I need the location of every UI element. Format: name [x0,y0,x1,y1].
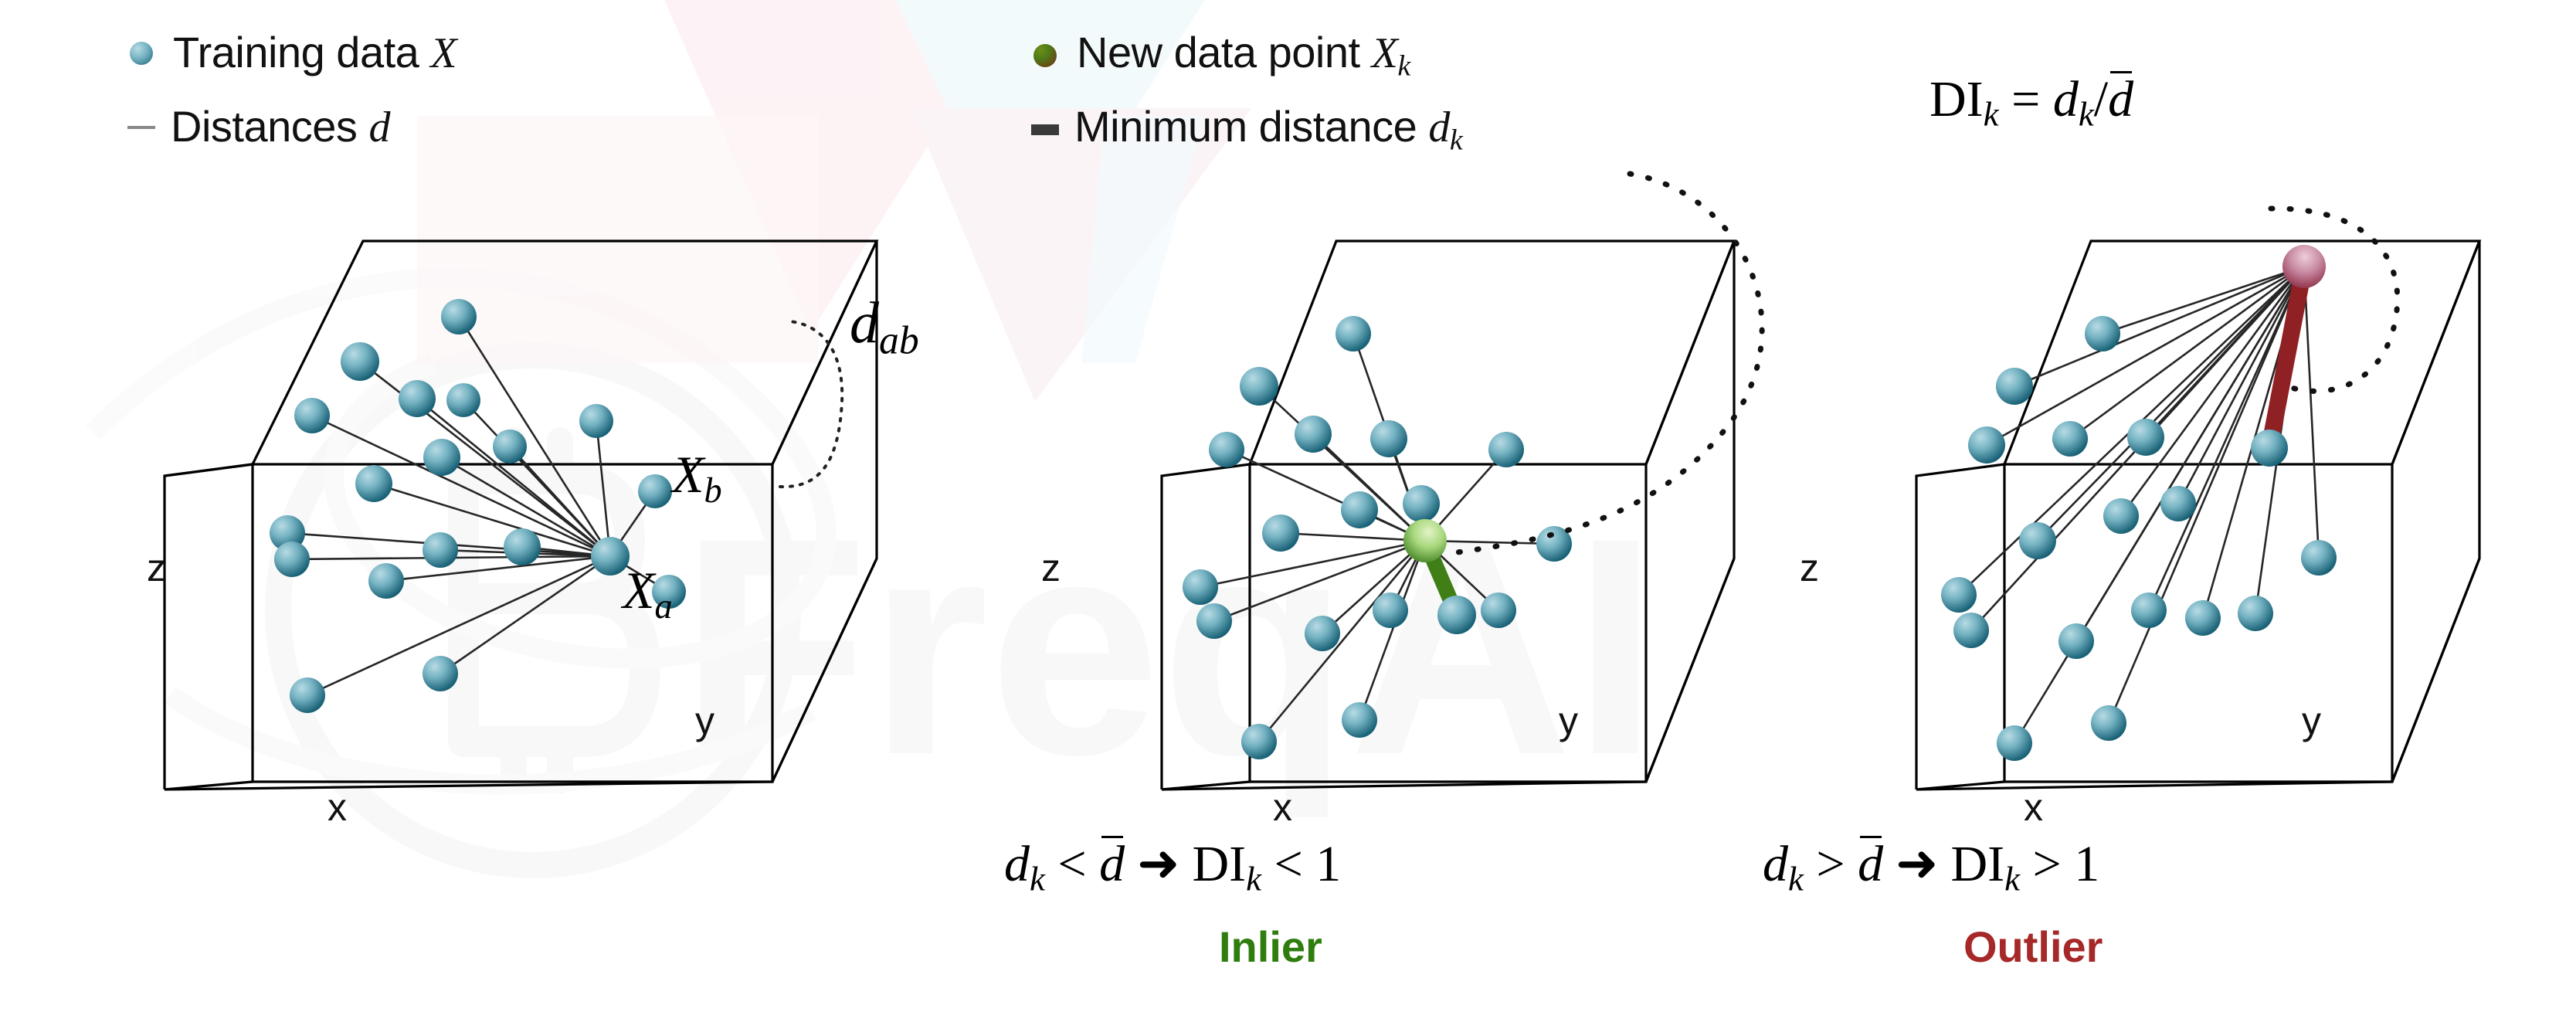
outlier-dbar: d [1858,839,1883,890]
symbol-X: X [430,29,456,77]
training-distance-lines [287,317,669,695]
inlier-DI-subscript: k [1246,860,1261,898]
di-numerator: d [2053,71,2079,127]
axis-label-z-panel1: z [147,548,166,587]
axis-label-z-panel2: z [1041,548,1061,587]
symbol-dk: d [1428,104,1450,151]
di-definition-formula: DIk = dk/d [1929,74,2133,131]
di-slash: / [2094,71,2108,127]
inlier-DI: DI [1192,836,1246,892]
axis-label-y-panel3: y [2302,701,2321,740]
outlier-DI-subscript: k [2004,860,2020,898]
outlier-one: 1 [2074,836,2099,892]
symbol-Xk: X [1372,29,1398,77]
verdict-outlier: Outlier [1963,925,2103,969]
outlier-dk: d [1763,836,1788,892]
outlier-dk-subscript: k [1788,860,1804,898]
legend-item-distances[interactable]: Distances d [130,105,390,149]
distances-marker-icon [127,126,155,129]
dab-symbol: d [850,290,879,355]
di-lhs: DI [1929,71,1984,127]
axis-label-y-panel1: y [695,701,714,740]
legend-item-minimum-distance[interactable]: Minimum distance dk [1033,105,1462,155]
outlier-DI: DI [1950,836,2004,892]
Xb-subscript: b [704,471,722,511]
Xb-symbol: X [672,445,704,504]
outlier-op1: > [1804,836,1858,892]
symbol-d: d [368,104,390,151]
inlier-op2: < [1261,836,1315,892]
legend-label-new-data-point: New data point Xk [1077,31,1410,81]
legend-label-distances: Distances d [171,105,390,149]
axis-label-x-panel1: x [328,788,347,827]
axis-label-x-panel3: x [2024,788,2043,827]
axis-label-z-panel3: z [1800,548,1819,587]
symbol-Xk-subscript: k [1397,50,1410,83]
axis-label-x-panel2: x [1273,788,1292,827]
minimum-distance-marker-icon [1031,124,1059,135]
di-equals: = [1999,71,2053,127]
legend-item-training-data[interactable]: Training data X [130,31,456,75]
new-point-outlier [2282,245,2326,288]
legend-label-training-data: Training data X [173,31,456,75]
training-data-marker-icon [130,42,153,65]
training-cube-frame [165,241,877,789]
inlier-dk: d [1004,836,1030,892]
caption-formula-inlier: dk < d➜DIk < 1 [1004,839,1341,896]
inlier-dk-subscript: k [1030,860,1045,898]
Xa-subscript: a [655,587,673,626]
axis-label-y-panel2: y [1559,701,1578,740]
legend-item-new-data-point[interactable]: New data point Xk [1033,31,1410,81]
point-label-Xb: Xb [672,448,722,509]
outlier-arrow-icon: ➜ [1883,836,1950,892]
di-lhs-subscript: k [1984,95,1999,134]
dab-leader [780,321,842,487]
dab-subscript: ab [879,318,919,362]
outlier-distance-lines [1959,267,2319,743]
new-point-inlier [1403,519,1447,562]
inlier-callout-dots [1452,174,1762,553]
new-data-point-marker-icon [1033,44,1057,67]
legend-label-minimum-distance: Minimum distance dk [1074,105,1462,155]
Xa-symbol: X [623,561,655,620]
verdict-inlier: Inlier [1219,925,1322,969]
outlier-op2: > [2020,836,2074,892]
training-points [270,299,686,713]
inlier-arrow-icon: ➜ [1125,836,1192,892]
symbol-dk-subscript: k [1450,124,1462,157]
annotation-dab: dab [850,294,919,361]
figure-canvas: FreqAI [0,0,2576,1022]
inlier-op1: < [1045,836,1099,892]
di-denominator-dbar: d [2108,74,2133,125]
di-numerator-subscript: k [2079,95,2094,134]
point-label-Xa: Xa [623,564,673,625]
caption-formula-outlier: dk > d➜DIk > 1 [1763,839,2099,896]
inlier-dbar: d [1099,839,1125,890]
inlier-one: 1 [1315,836,1341,892]
